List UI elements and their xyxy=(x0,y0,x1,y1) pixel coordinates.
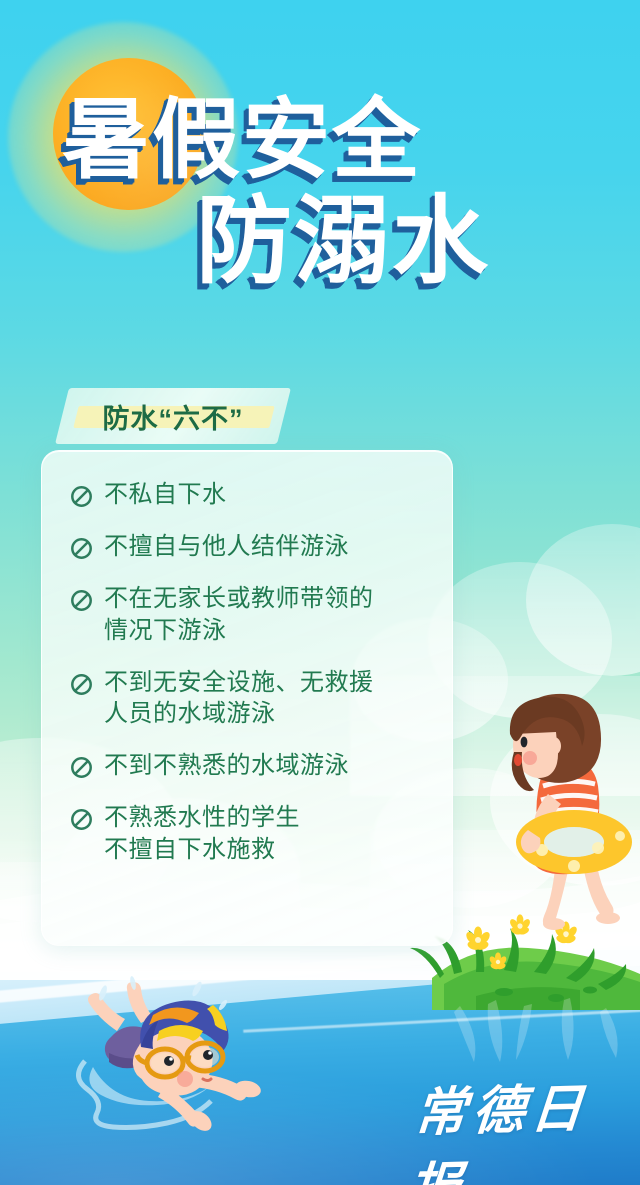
rules-card: 不私自下水 不擅自与他人结伴游泳 不在无家长或教师带领的 情况下游泳 xyxy=(41,450,453,946)
rule-text: 不擅自与他人结伴游泳 xyxy=(104,531,349,562)
section-header-tab: 防水“六不” xyxy=(62,388,284,444)
swimming-boy-illustration xyxy=(45,975,290,1135)
poster-title: 暑假安全 防溺水 xyxy=(0,96,640,290)
no-entry-icon xyxy=(70,808,93,831)
no-entry-icon xyxy=(70,537,93,560)
rule-text: 不在无家长或教师带领的 情况下游泳 xyxy=(104,583,374,645)
title-line-2: 防溺水 xyxy=(0,194,640,290)
rules-list: 不私自下水 不擅自与他人结伴游泳 不在无家长或教师带领的 情况下游泳 xyxy=(70,479,426,865)
no-entry-icon xyxy=(70,589,93,612)
rule-item: 不擅自与他人结伴游泳 xyxy=(70,531,426,562)
rule-text: 不私自下水 xyxy=(104,479,227,510)
rule-text: 不到不熟悉的水域游泳 xyxy=(104,750,349,781)
girl-with-swim-ring-illustration xyxy=(470,690,640,940)
rule-item: 不私自下水 xyxy=(70,479,426,510)
rule-item: 不到无安全设施、无救援 人员的水域游泳 xyxy=(70,667,426,729)
no-entry-icon xyxy=(70,485,93,508)
rule-item: 不熟悉水性的学生 不擅自下水施救 xyxy=(70,802,426,864)
poster-root: 暑假安全 防溺水 xyxy=(0,0,640,1185)
rule-text: 不到无安全设施、无救援 人员的水域游泳 xyxy=(104,667,374,729)
publisher-signature: 常德日报 xyxy=(412,1068,612,1156)
rule-item: 不在无家长或教师带领的 情况下游泳 xyxy=(70,583,426,645)
rule-item: 不到不熟悉的水域游泳 xyxy=(70,750,426,781)
rule-text: 不熟悉水性的学生 不擅自下水施救 xyxy=(104,802,300,864)
no-entry-icon xyxy=(70,756,93,779)
no-entry-icon xyxy=(70,673,93,696)
title-line-1: 暑假安全 xyxy=(0,96,640,184)
publisher-name: 常德日报 xyxy=(406,1065,618,1185)
section-header-label: 防水“六不” xyxy=(103,397,244,436)
